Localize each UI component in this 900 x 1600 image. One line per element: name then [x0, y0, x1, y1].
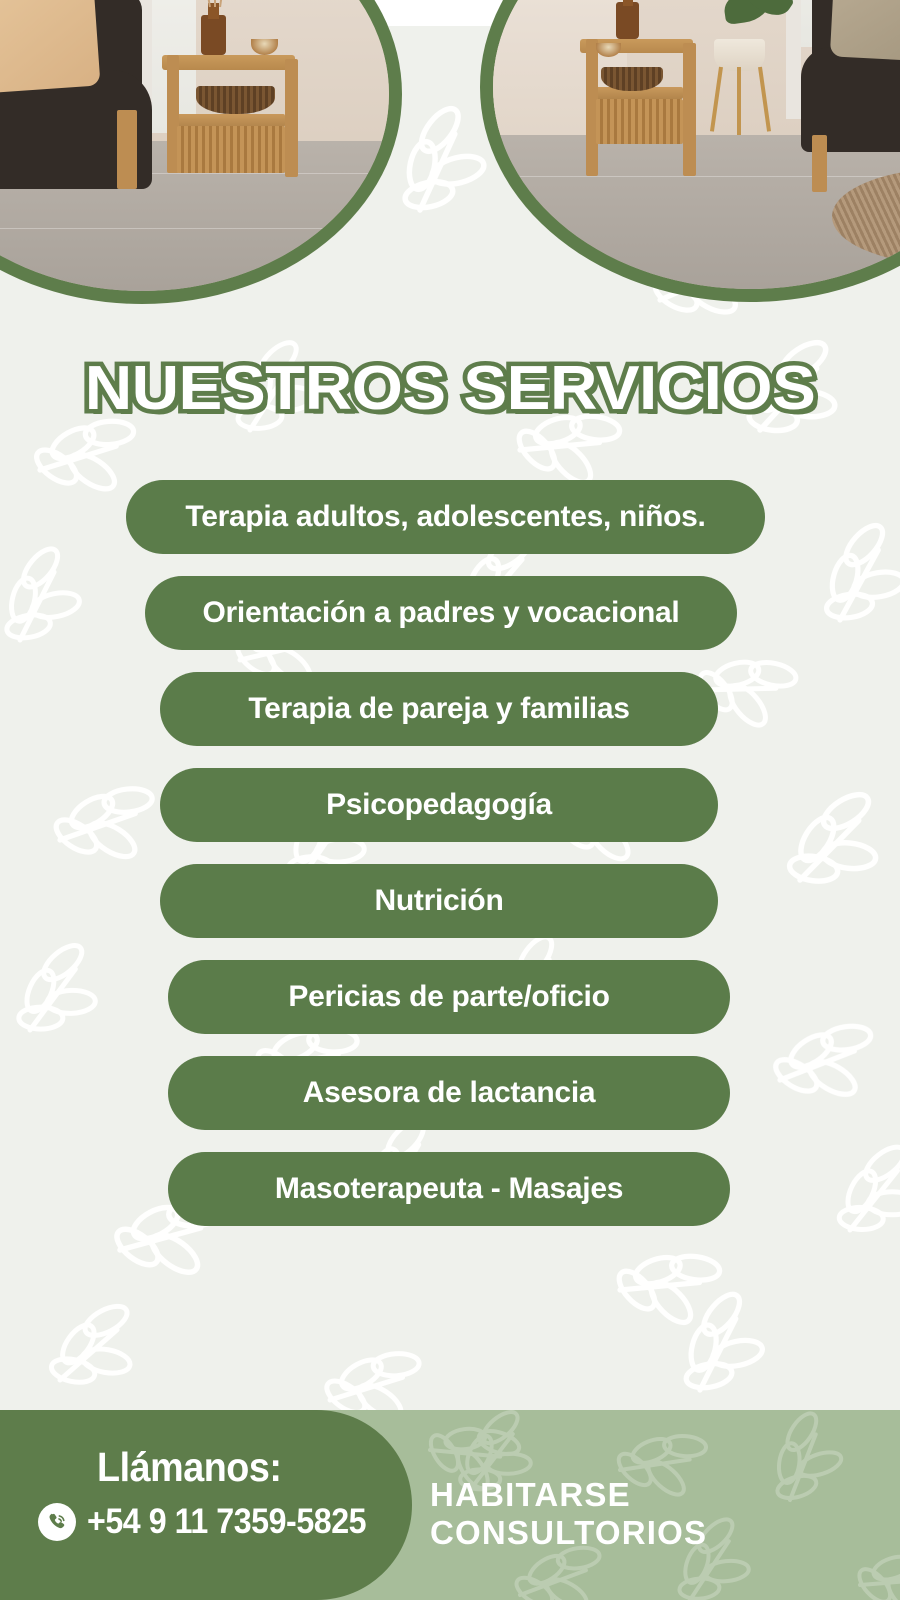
top-white-notch: [372, 0, 502, 26]
service-label: Terapia de pareja y familias: [248, 692, 629, 726]
service-pill[interactable]: Asesora de lactancia: [168, 1056, 730, 1130]
service-pill[interactable]: Masoterapeuta - Masajes: [168, 1152, 730, 1226]
call-us-label: Llámanos:: [97, 1444, 282, 1491]
footer-bar: Llámanos: +54 9 11 7359-5825 HABITARSE C…: [0, 1410, 900, 1600]
call-us-panel: Llámanos: +54 9 11 7359-5825: [0, 1410, 412, 1600]
phone-number[interactable]: +54 9 11 7359-5825: [87, 1502, 366, 1542]
page-title: NUESTROS SERVICIOS: [0, 358, 900, 420]
service-label: Nutrición: [375, 884, 504, 918]
service-pill[interactable]: Terapia de pareja y familias: [160, 672, 718, 746]
header-photo-zone: [0, 0, 900, 330]
service-label: Terapia adultos, adolescentes, niños.: [185, 500, 705, 534]
service-label: Pericias de parte/oficio: [288, 980, 609, 1014]
service-pill[interactable]: Psicopedagogía: [160, 768, 718, 842]
photo-waiting-room-left: [0, 0, 402, 304]
service-pill[interactable]: Nutrición: [160, 864, 718, 938]
phone-call-icon: [38, 1503, 76, 1541]
brand-name: HABITARSE CONSULTORIOS: [430, 1476, 900, 1552]
phone-row[interactable]: +54 9 11 7359-5825: [38, 1502, 390, 1542]
photo-consulting-room-right: [480, 0, 900, 302]
service-pill[interactable]: Terapia adultos, adolescentes, niños.: [126, 480, 765, 554]
service-label: Psicopedagogía: [326, 788, 552, 822]
service-pill[interactable]: Pericias de parte/oficio: [168, 960, 730, 1034]
service-label: Orientación a padres y vocacional: [203, 596, 680, 630]
poster-canvas: NUESTROS SERVICIOS Terapia adultos, adol…: [0, 0, 900, 1600]
service-label: Asesora de lactancia: [303, 1076, 596, 1110]
service-pill[interactable]: Orientación a padres y vocacional: [145, 576, 737, 650]
service-label: Masoterapeuta - Masajes: [275, 1172, 623, 1206]
